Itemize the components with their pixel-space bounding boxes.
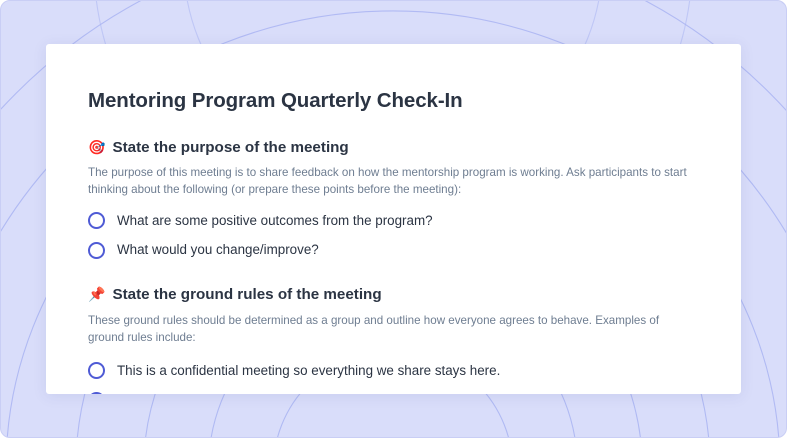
checklist-item[interactable]: If I ask a question that you are not com… (88, 391, 699, 394)
section-heading-purpose: 🎯 State the purpose of the meeting (88, 138, 699, 157)
section-heading-label: State the purpose of the meeting (112, 138, 348, 157)
checklist-item[interactable]: What are some positive outcomes from the… (88, 212, 699, 229)
document-card: Mentoring Program Quarterly Check-In 🎯 S… (46, 44, 741, 394)
pushpin-emoji-icon: 📌 (88, 287, 105, 301)
checkbox-circle-icon[interactable] (88, 362, 105, 379)
page-title: Mentoring Program Quarterly Check-In (88, 89, 699, 114)
document-section-purpose: 🎯 State the purpose of the meeting The p… (88, 138, 699, 259)
checkbox-circle-icon[interactable] (88, 242, 105, 259)
checklist-item[interactable]: This is a confidential meeting so everyt… (88, 362, 699, 379)
checklist-item[interactable]: What would you change/improve? (88, 241, 699, 258)
checkbox-circle-icon[interactable] (88, 212, 105, 229)
checklist-purpose: What are some positive outcomes from the… (88, 212, 699, 259)
checklist-item-label: What would you change/improve? (117, 241, 319, 258)
checklist-item-label: If I ask a question that you are not com… (117, 391, 547, 394)
section-heading-ground-rules: 📌 State the ground rules of the meeting (88, 285, 699, 304)
screenshot-canvas: Mentoring Program Quarterly Check-In 🎯 S… (0, 0, 787, 438)
target-emoji-icon: 🎯 (88, 140, 105, 154)
section-description-purpose: The purpose of this meeting is to share … (88, 164, 688, 198)
checkbox-circle-icon[interactable] (88, 392, 105, 394)
checklist-item-label: What are some positive outcomes from the… (117, 212, 433, 229)
section-description-ground-rules: These ground rules should be determined … (88, 312, 688, 346)
checklist-ground-rules: This is a confidential meeting so everyt… (88, 362, 699, 394)
checklist-item-label: This is a confidential meeting so everyt… (117, 362, 500, 379)
section-heading-label: State the ground rules of the meeting (112, 285, 381, 304)
document-section-ground-rules: 📌 State the ground rules of the meeting … (88, 285, 699, 394)
